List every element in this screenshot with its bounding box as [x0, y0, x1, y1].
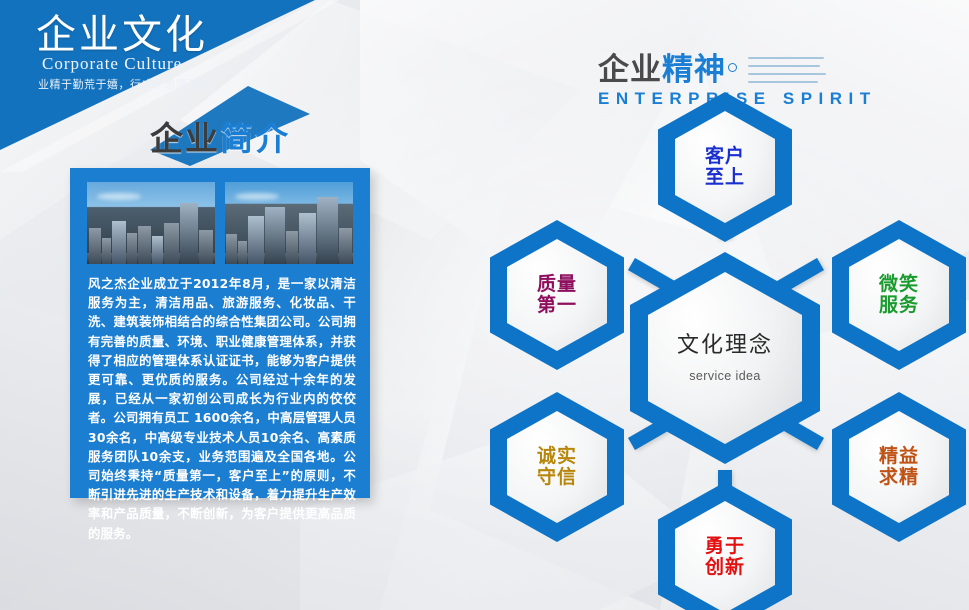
- cloud-shape: [97, 193, 141, 200]
- building: [339, 228, 352, 264]
- building: [102, 238, 111, 264]
- building: [152, 236, 163, 264]
- hex-quality-first-inner: 质量 第一: [507, 239, 607, 351]
- cityscape-photo-right: [225, 182, 353, 264]
- hex-smile-service-inner: 微笑 服务: [849, 239, 949, 351]
- building: [112, 221, 126, 264]
- hex-culture-concept-label-cn: 文化理念: [677, 333, 773, 358]
- hex-excellence-line2: 求精: [879, 467, 919, 488]
- enterprise-spirit-heading-blue: 精神: [662, 52, 726, 87]
- hex-innovation-line1: 勇于: [705, 536, 745, 557]
- hex-excellence-line1: 精益: [879, 446, 919, 467]
- hex-innovation[interactable]: 勇于 创新: [658, 482, 792, 610]
- culture-hexagon-cluster: 文化理念 service idea 客户 至上 微笑 服务 精益 求精: [480, 100, 969, 610]
- hex-innovation-line2: 创新: [705, 557, 745, 578]
- hex-culture-concept-inner: 文化理念 service idea: [648, 272, 802, 444]
- corporate-culture-title-en: Corporate Culture: [42, 54, 302, 74]
- enterprise-spirit-heading-dark: 企业: [598, 52, 662, 87]
- photo-strip: [87, 182, 353, 264]
- building: [248, 216, 264, 264]
- hex-excellence[interactable]: 精益 求精: [832, 392, 966, 542]
- building: [138, 226, 151, 264]
- company-intro-heading: 企业简介: [150, 112, 290, 160]
- hex-culture-concept-label-en: service idea: [689, 369, 761, 383]
- cloud-shape: [235, 193, 279, 200]
- hex-customer-first-line1: 客户: [705, 146, 745, 167]
- hex-quality-first-line1: 质量: [537, 274, 577, 295]
- company-intro-heading-dark: 企业: [150, 120, 220, 157]
- building: [164, 223, 179, 264]
- hex-integrity-line2: 守信: [537, 467, 577, 488]
- corporate-culture-title-cn: 企业文化: [36, 14, 296, 56]
- hex-quality-first-line2: 第一: [537, 295, 577, 316]
- cityscape-photo-left: [87, 182, 215, 264]
- poster-canvas: 企业文化 Corporate Culture 业精于勤荒于嬉，行成于思毁于随。 …: [0, 0, 969, 610]
- company-intro-heading-blue: 简介: [220, 120, 290, 157]
- hex-excellence-inner: 精益 求精: [849, 411, 949, 523]
- hex-smile-service[interactable]: 微笑 服务: [832, 220, 966, 370]
- company-intro-card: 风之杰企业成立于2012年8月，是一家以清洁服务为主，清洁用品、旅游服务、化妆品…: [70, 168, 370, 498]
- circle-accent-icon: [728, 63, 737, 72]
- decorative-microtext: [748, 57, 826, 83]
- landmark-tower: [265, 207, 285, 264]
- hex-smile-service-line1: 微笑: [879, 274, 919, 295]
- hex-integrity-line1: 诚实: [537, 446, 577, 467]
- building: [299, 213, 316, 264]
- building: [89, 228, 101, 264]
- company-intro-body: 风之杰企业成立于2012年8月，是一家以清洁服务为主，清洁用品、旅游服务、化妆品…: [88, 274, 356, 543]
- hex-innovation-inner: 勇于 创新: [675, 501, 775, 610]
- building: [226, 234, 237, 264]
- hex-customer-first-line2: 至上: [705, 167, 745, 188]
- landmark-tower: [180, 203, 198, 264]
- hex-integrity-inner: 诚实 守信: [507, 411, 607, 523]
- hex-customer-first[interactable]: 客户 至上: [658, 92, 792, 242]
- building: [286, 231, 298, 264]
- corporate-culture-motto: 业精于勤荒于嬉，行成于思毁于随。: [38, 76, 318, 92]
- building: [199, 230, 213, 264]
- hex-customer-first-inner: 客户 至上: [675, 111, 775, 223]
- landmark-tower: [317, 197, 338, 264]
- hex-smile-service-line2: 服务: [879, 295, 919, 316]
- building: [238, 241, 247, 264]
- hex-quality-first[interactable]: 质量 第一: [490, 220, 624, 370]
- hex-integrity[interactable]: 诚实 守信: [490, 392, 624, 542]
- building: [127, 233, 137, 264]
